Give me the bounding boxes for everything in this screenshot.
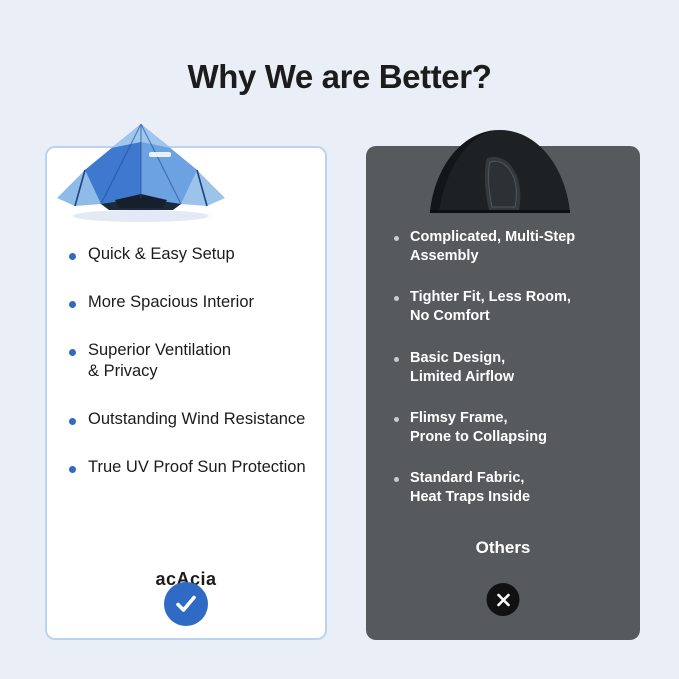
comparison-infographic: Why We are Better? Quick & Easy Setup Mo… [0, 0, 679, 679]
bullet-icon [69, 349, 76, 356]
list-item-label: Basic Design, Limited Airflow [410, 349, 514, 387]
list-item: Outstanding Wind Resistance [69, 409, 311, 431]
blue-beach-tent-image [45, 118, 237, 226]
others-label: Others [366, 538, 640, 558]
bullet-icon [394, 296, 399, 301]
list-item-label: Quick & Easy Setup [88, 244, 235, 266]
list-item: Superior Ventilation & Privacy [69, 340, 311, 384]
list-item-label: Tighter Fit, Less Room, No Comfort [410, 288, 571, 326]
check-icon [173, 591, 199, 617]
check-badge [164, 582, 208, 626]
list-item-label: More Spacious Interior [88, 292, 254, 314]
bullet-icon [69, 418, 76, 425]
list-item-label: Superior Ventilation & Privacy [88, 340, 231, 384]
list-item: True UV Proof Sun Protection [69, 457, 311, 479]
right-feature-list: Complicated, Multi-Step Assembly Tighter… [366, 228, 640, 529]
bullet-icon [69, 301, 76, 308]
page-title: Why We are Better? [0, 58, 679, 96]
list-item-label: Standard Fabric, Heat Traps Inside [410, 469, 530, 507]
dark-dome-tent-image [425, 126, 575, 226]
list-item: Complicated, Multi-Step Assembly [394, 228, 626, 266]
list-item-label: Complicated, Multi-Step Assembly [410, 228, 575, 266]
bullet-icon [394, 477, 399, 482]
list-item-label: Outstanding Wind Resistance [88, 409, 305, 431]
list-item: Basic Design, Limited Airflow [394, 349, 626, 387]
list-item-label: True UV Proof Sun Protection [88, 457, 306, 479]
x-badge [487, 583, 520, 616]
left-feature-list: Quick & Easy Setup More Spacious Interio… [47, 244, 325, 505]
list-item: Tighter Fit, Less Room, No Comfort [394, 288, 626, 326]
list-item-label: Flimsy Frame, Prone to Collapsing [410, 409, 547, 447]
list-item: Quick & Easy Setup [69, 244, 311, 266]
bullet-icon [69, 466, 76, 473]
bullet-icon [394, 417, 399, 422]
bullet-icon [394, 357, 399, 362]
list-item: More Spacious Interior [69, 292, 311, 314]
list-item: Standard Fabric, Heat Traps Inside [394, 469, 626, 507]
bullet-icon [394, 236, 399, 241]
list-item: Flimsy Frame, Prone to Collapsing [394, 409, 626, 447]
bullet-icon [69, 253, 76, 260]
x-icon [494, 591, 512, 609]
